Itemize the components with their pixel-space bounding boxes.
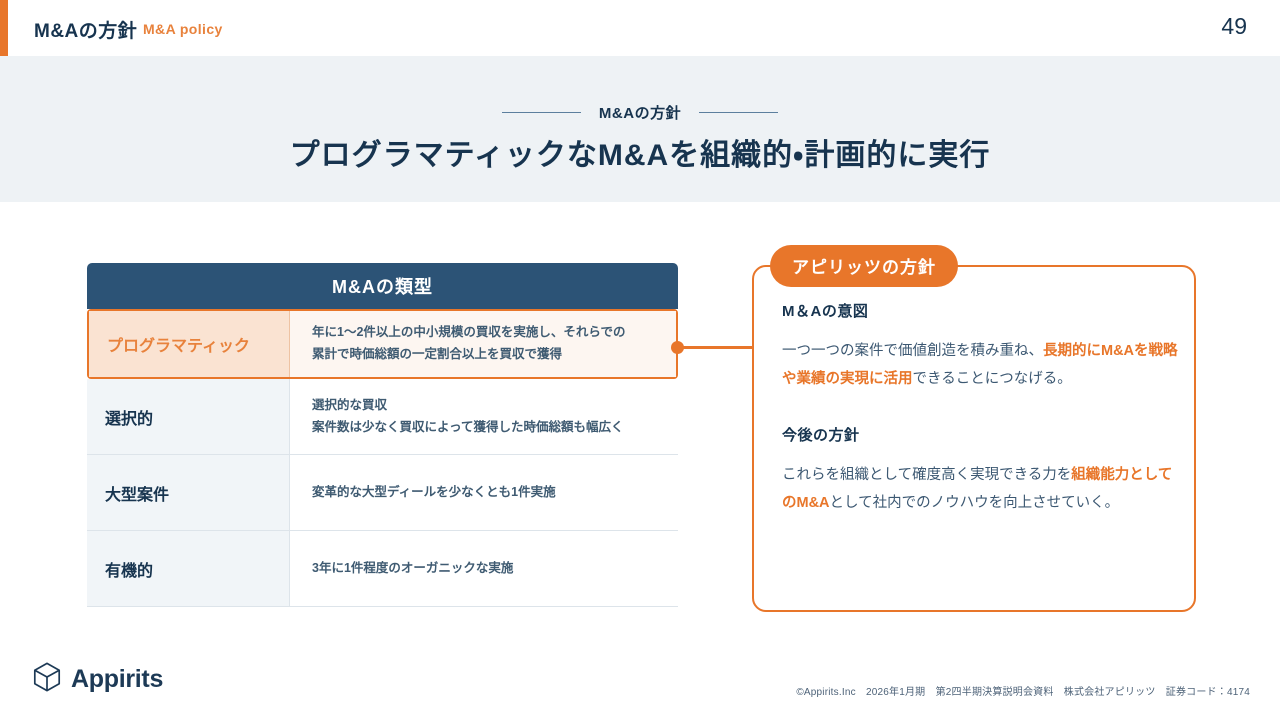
- eyebrow-rule-left: [502, 112, 581, 113]
- page-number: 49: [1221, 13, 1247, 40]
- table-row: 有機的 3年に1件程度のオーガニックな実施: [87, 531, 678, 607]
- description-line-2: 案件数は少なく買収によって獲得した時価総額も幅広く: [312, 420, 624, 434]
- table-row: プログラマティック 年に1〜2件以上の中小規模の買収を実施し、それらでの 累計で…: [87, 309, 678, 379]
- policy-panel-badge: アピリッツの方針: [770, 245, 958, 287]
- eyebrow-rule-right: [699, 112, 778, 113]
- ma-type-table: M&Aの類型 プログラマティック 年に1〜2件以上の中小規模の買収を実施し、それ…: [87, 263, 678, 607]
- spacer: [782, 445, 1182, 461]
- header-accent-bar: [0, 0, 8, 56]
- table-cell-description: 変革的な大型ディールを少なくとも1件実施: [290, 455, 678, 530]
- slide-header: M&Aの方針 M&A policy 49: [0, 0, 1280, 56]
- spacer: [782, 394, 1182, 424]
- appirits-logo: Appirits: [32, 661, 163, 698]
- table-cell-description: 選択的な買収 案件数は少なく買収によって獲得した時価総額も幅広く: [290, 379, 678, 454]
- eyebrow-label: M&Aの方針: [599, 102, 681, 123]
- table-cell-category: 選択的: [87, 379, 290, 454]
- policy-section-text: これらを組織として確度高く実現できる力を組織能力としてのM&Aとして社内でのノウ…: [782, 461, 1182, 518]
- eyebrow: M&Aの方針: [0, 102, 1280, 123]
- table-row: 大型案件 変革的な大型ディールを少なくとも1件実施: [87, 455, 678, 531]
- description-line-2: 累計で時価総額の一定割合以上を買収で獲得: [312, 347, 562, 361]
- description-line-1: 選択的な買収: [312, 398, 387, 412]
- connector-dot: [671, 341, 684, 354]
- spacer: [782, 321, 1182, 337]
- copyright-text: ©Appirits.Inc 2026年1月期 第2四半期決算説明会資料 株式会社…: [796, 683, 1250, 698]
- header-title-japanese: M&Aの方針: [34, 16, 137, 43]
- connector-line: [682, 346, 754, 349]
- policy-text-part-1: これらを組織として確度高く実現できる力を: [782, 467, 1071, 483]
- table-cell-category: プログラマティック: [89, 311, 290, 377]
- header-title-english: M&A policy: [143, 21, 223, 37]
- description-line-1: 年に1〜2件以上の中小規模の買収を実施し、それらでの: [312, 325, 626, 339]
- table-cell-category: 有機的: [87, 531, 290, 606]
- title-band: M&Aの方針 プログラマティックなM&Aを組織的・計画的に実行: [0, 56, 1280, 202]
- table-cell-description: 年に1〜2件以上の中小規模の買収を実施し、それらでの 累計で時価総額の一定割合以…: [290, 311, 676, 377]
- policy-text-part-2: として社内でのノウハウを向上させていく。: [830, 495, 1120, 511]
- table-cell-description: 3年に1件程度のオーガニックな実施: [290, 531, 678, 606]
- table-header: M&Aの類型: [87, 263, 678, 309]
- table-row: 選択的 選択的な買収 案件数は少なく買収によって獲得した時価総額も幅広く: [87, 379, 678, 455]
- cube-icon: [32, 661, 62, 698]
- policy-section-heading: M＆Aの意図: [782, 300, 1182, 321]
- slide-headline: プログラマティックなM&Aを組織的・計画的に実行: [0, 130, 1280, 174]
- policy-section-text: 一つ一つの案件で価値創造を積み重ね、長期的にM&Aを戦略や業績の実現に活用できる…: [782, 337, 1182, 394]
- policy-section-heading: 今後の方針: [782, 424, 1182, 445]
- table-cell-category: 大型案件: [87, 455, 290, 530]
- logo-wordmark: Appirits: [71, 665, 163, 694]
- policy-panel-body: M＆Aの意図 一つ一つの案件で価値創造を積み重ね、長期的にM&Aを戦略や業績の実…: [782, 300, 1182, 517]
- policy-text-part-2: できることにつなげる。: [913, 371, 1072, 387]
- policy-text-part-1: 一つ一つの案件で価値創造を積み重ね、: [782, 343, 1043, 359]
